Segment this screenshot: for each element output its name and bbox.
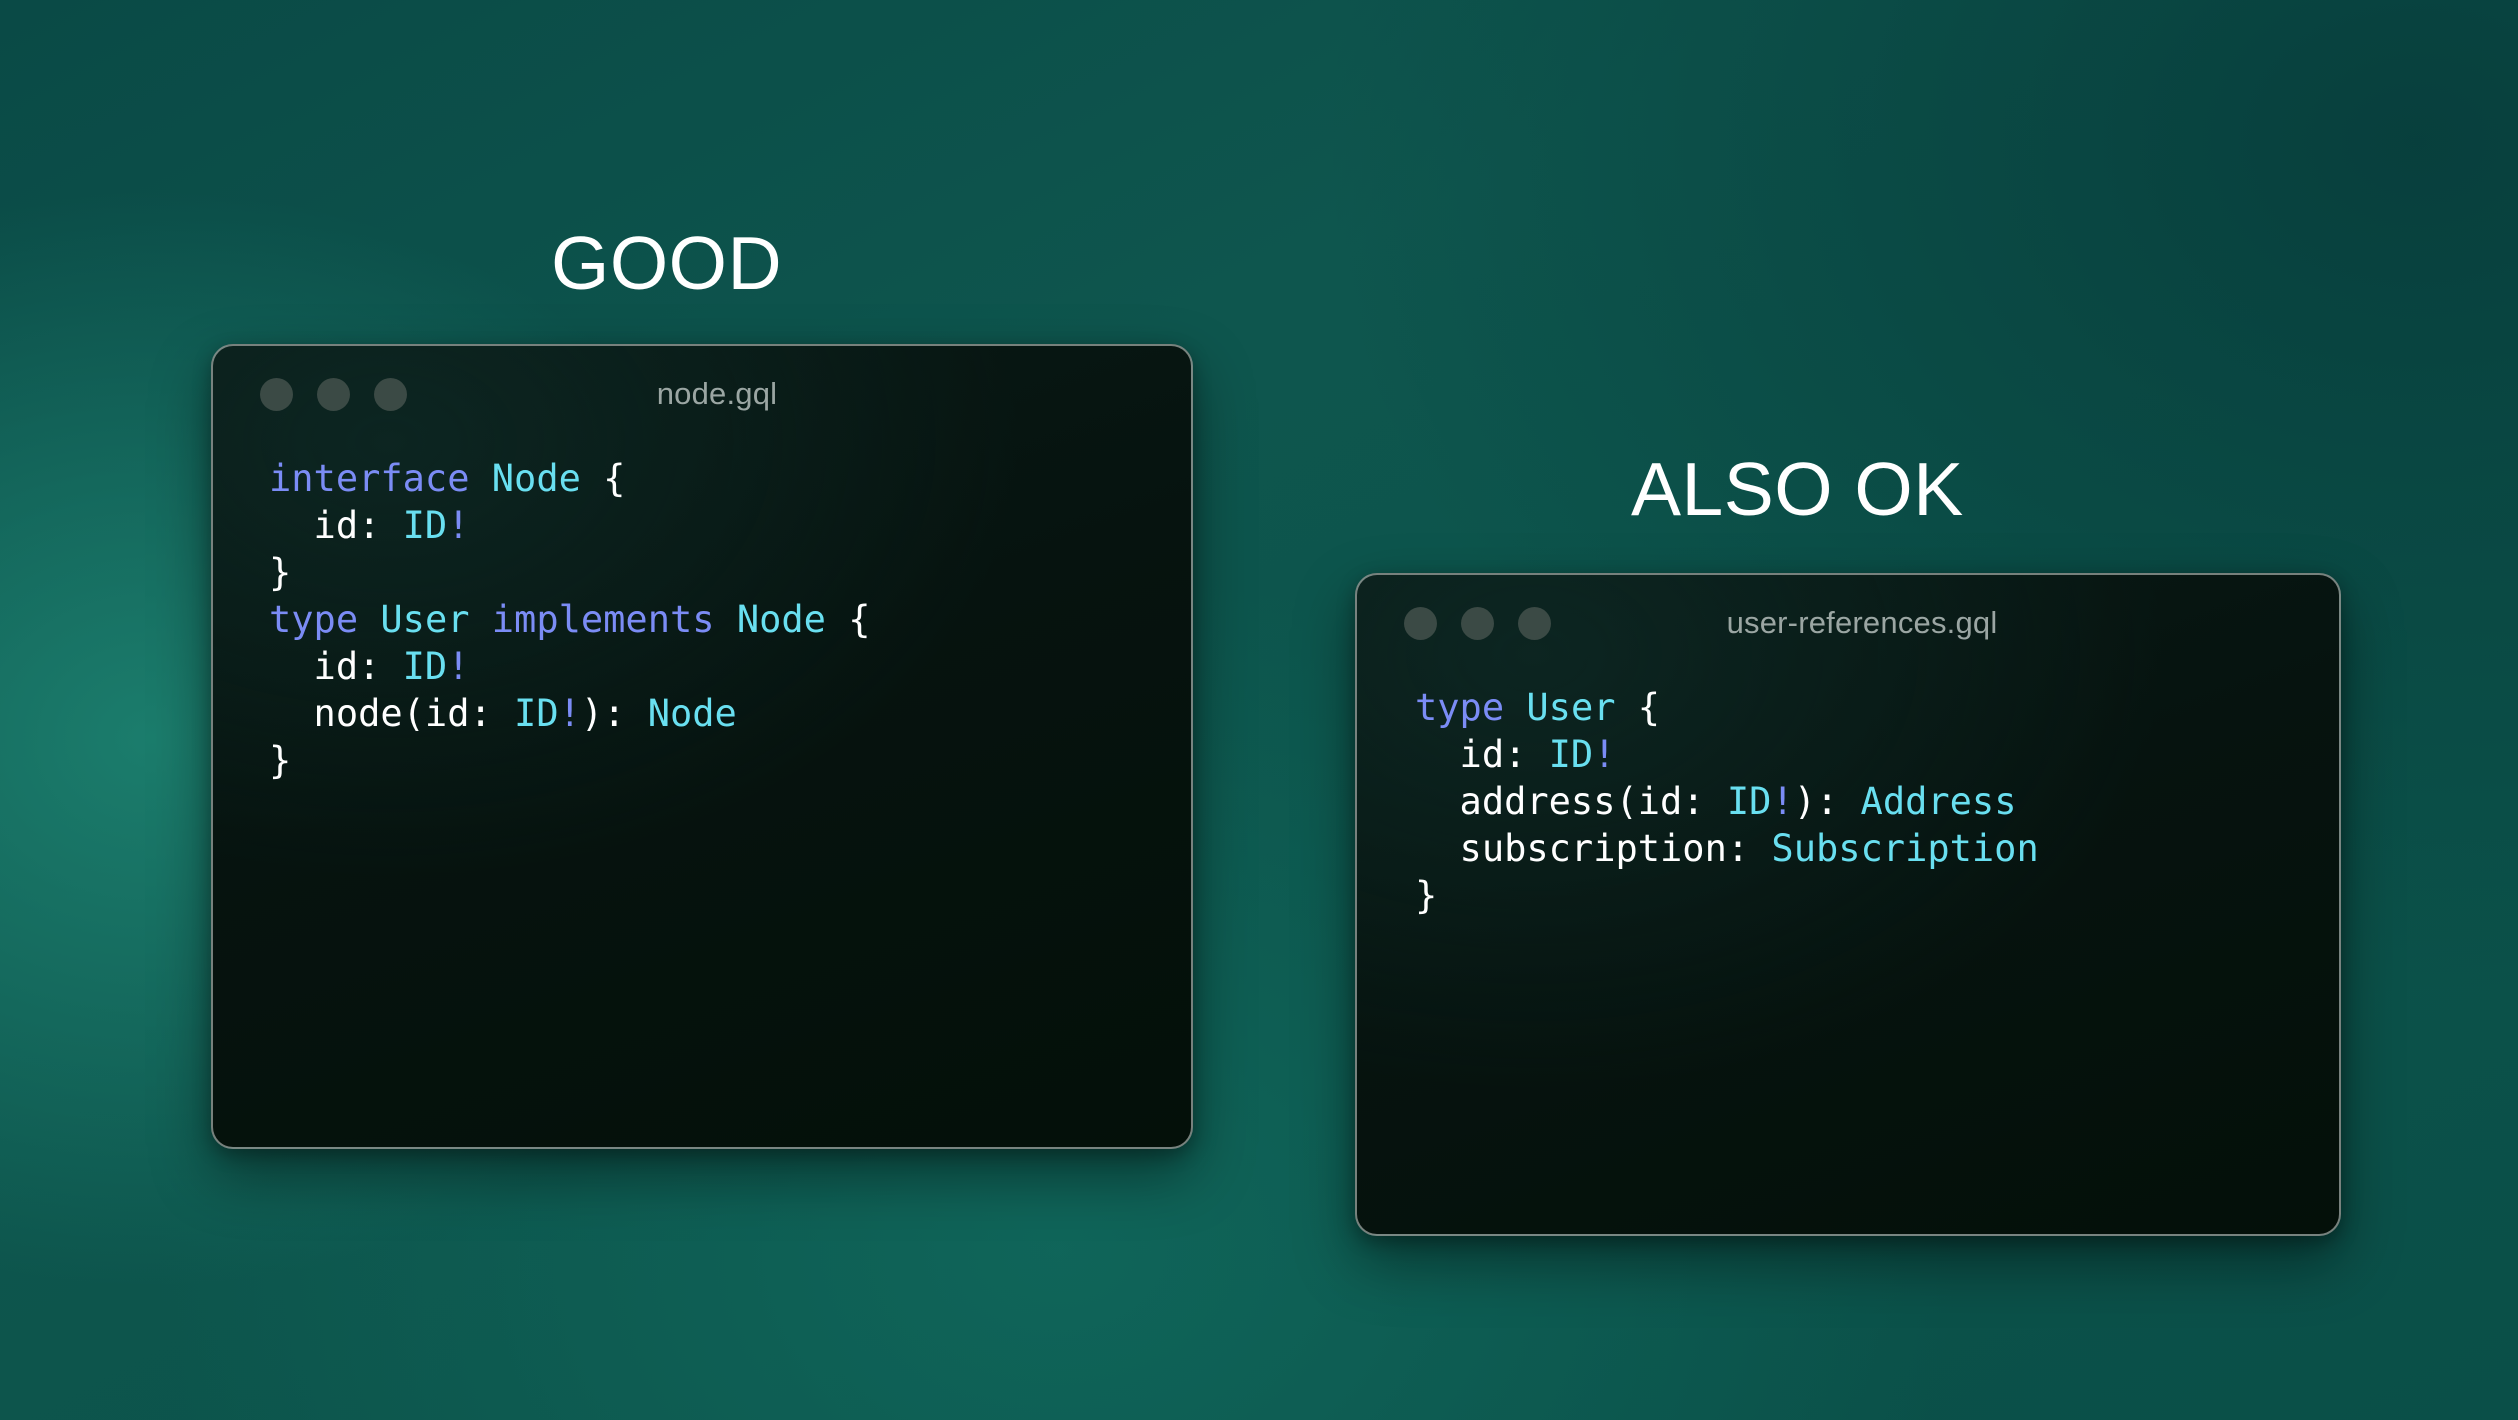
minimize-dot-icon[interactable] (317, 378, 350, 411)
close-dot-icon[interactable] (260, 378, 293, 411)
code-token-plain (358, 598, 380, 641)
title-bar-good: node.gql (213, 346, 1191, 442)
code-token-plain: { (581, 457, 626, 500)
code-token-bang: ! (447, 504, 469, 547)
code-token-type: User (1526, 686, 1615, 729)
code-line: id: ID! (269, 503, 1191, 550)
panel-heading-good: GOOD (551, 220, 782, 306)
title-bar-alsook: user-references.gql (1357, 575, 2339, 671)
code-line: id: ID! (1415, 732, 2339, 779)
code-token-type: Subscription (1771, 827, 2038, 870)
code-token-type: Node (648, 692, 737, 735)
traffic-lights-alsook (1404, 607, 1551, 640)
code-token-keyword: implements (492, 598, 715, 641)
code-token-plain: } (1415, 874, 1437, 917)
code-token-plain: { (1616, 686, 1661, 729)
code-token-plain (1504, 686, 1526, 729)
code-token-plain: ): (581, 692, 648, 735)
minimize-dot-icon[interactable] (1461, 607, 1494, 640)
code-token-plain: } (269, 551, 291, 594)
code-window-good: node.gql interface Node { id: ID!}type U… (211, 344, 1193, 1149)
code-token-plain (715, 598, 737, 641)
code-token-bang: ! (1593, 733, 1615, 776)
code-token-bang: ! (447, 645, 469, 688)
code-token-type: User (380, 598, 469, 641)
code-line: subscription: Subscription (1415, 826, 2339, 873)
code-line: type User { (1415, 685, 2339, 732)
code-token-type: Address (1861, 780, 2017, 823)
code-line: interface Node { (269, 456, 1191, 503)
code-token-plain: ): (1794, 780, 1861, 823)
code-token-plain: id: (1415, 733, 1549, 776)
code-line: id: ID! (269, 644, 1191, 691)
close-dot-icon[interactable] (1404, 607, 1437, 640)
traffic-lights-good (260, 378, 407, 411)
code-block-good: interface Node { id: ID!}type User imple… (213, 442, 1191, 785)
code-token-keyword: type (269, 598, 358, 641)
code-line: } (269, 738, 1191, 785)
code-token-keyword: type (1415, 686, 1504, 729)
code-token-plain: id: (269, 504, 403, 547)
code-token-type: ID (403, 504, 448, 547)
code-token-keyword: interface (269, 457, 469, 500)
code-line: address(id: ID!): Address (1415, 779, 2339, 826)
maximize-dot-icon[interactable] (1518, 607, 1551, 640)
code-token-bang: ! (559, 692, 581, 735)
code-token-plain (470, 598, 492, 641)
code-token-plain: { (826, 598, 871, 641)
code-line: type User implements Node { (269, 597, 1191, 644)
code-block-alsook: type User { id: ID! address(id: ID!): Ad… (1357, 671, 2339, 920)
code-token-type: ID (1549, 733, 1594, 776)
code-window-alsook: user-references.gql type User { id: ID! … (1355, 573, 2341, 1236)
code-token-type: Node (737, 598, 826, 641)
code-token-plain: node(id: (269, 692, 514, 735)
code-token-type: ID (1727, 780, 1772, 823)
code-token-plain: subscription: (1415, 827, 1771, 870)
code-token-plain (469, 457, 491, 500)
code-token-type: ID (403, 645, 448, 688)
code-token-type: Node (492, 457, 581, 500)
code-token-type: ID (514, 692, 559, 735)
code-line: } (1415, 873, 2339, 920)
code-token-bang: ! (1771, 780, 1793, 823)
code-line: } (269, 550, 1191, 597)
maximize-dot-icon[interactable] (374, 378, 407, 411)
code-line: node(id: ID!): Node (269, 691, 1191, 738)
code-token-plain: } (269, 739, 291, 782)
code-token-plain: address(id: (1415, 780, 1727, 823)
code-token-plain: id: (269, 645, 403, 688)
panel-heading-alsook: ALSO OK (1631, 446, 1964, 532)
